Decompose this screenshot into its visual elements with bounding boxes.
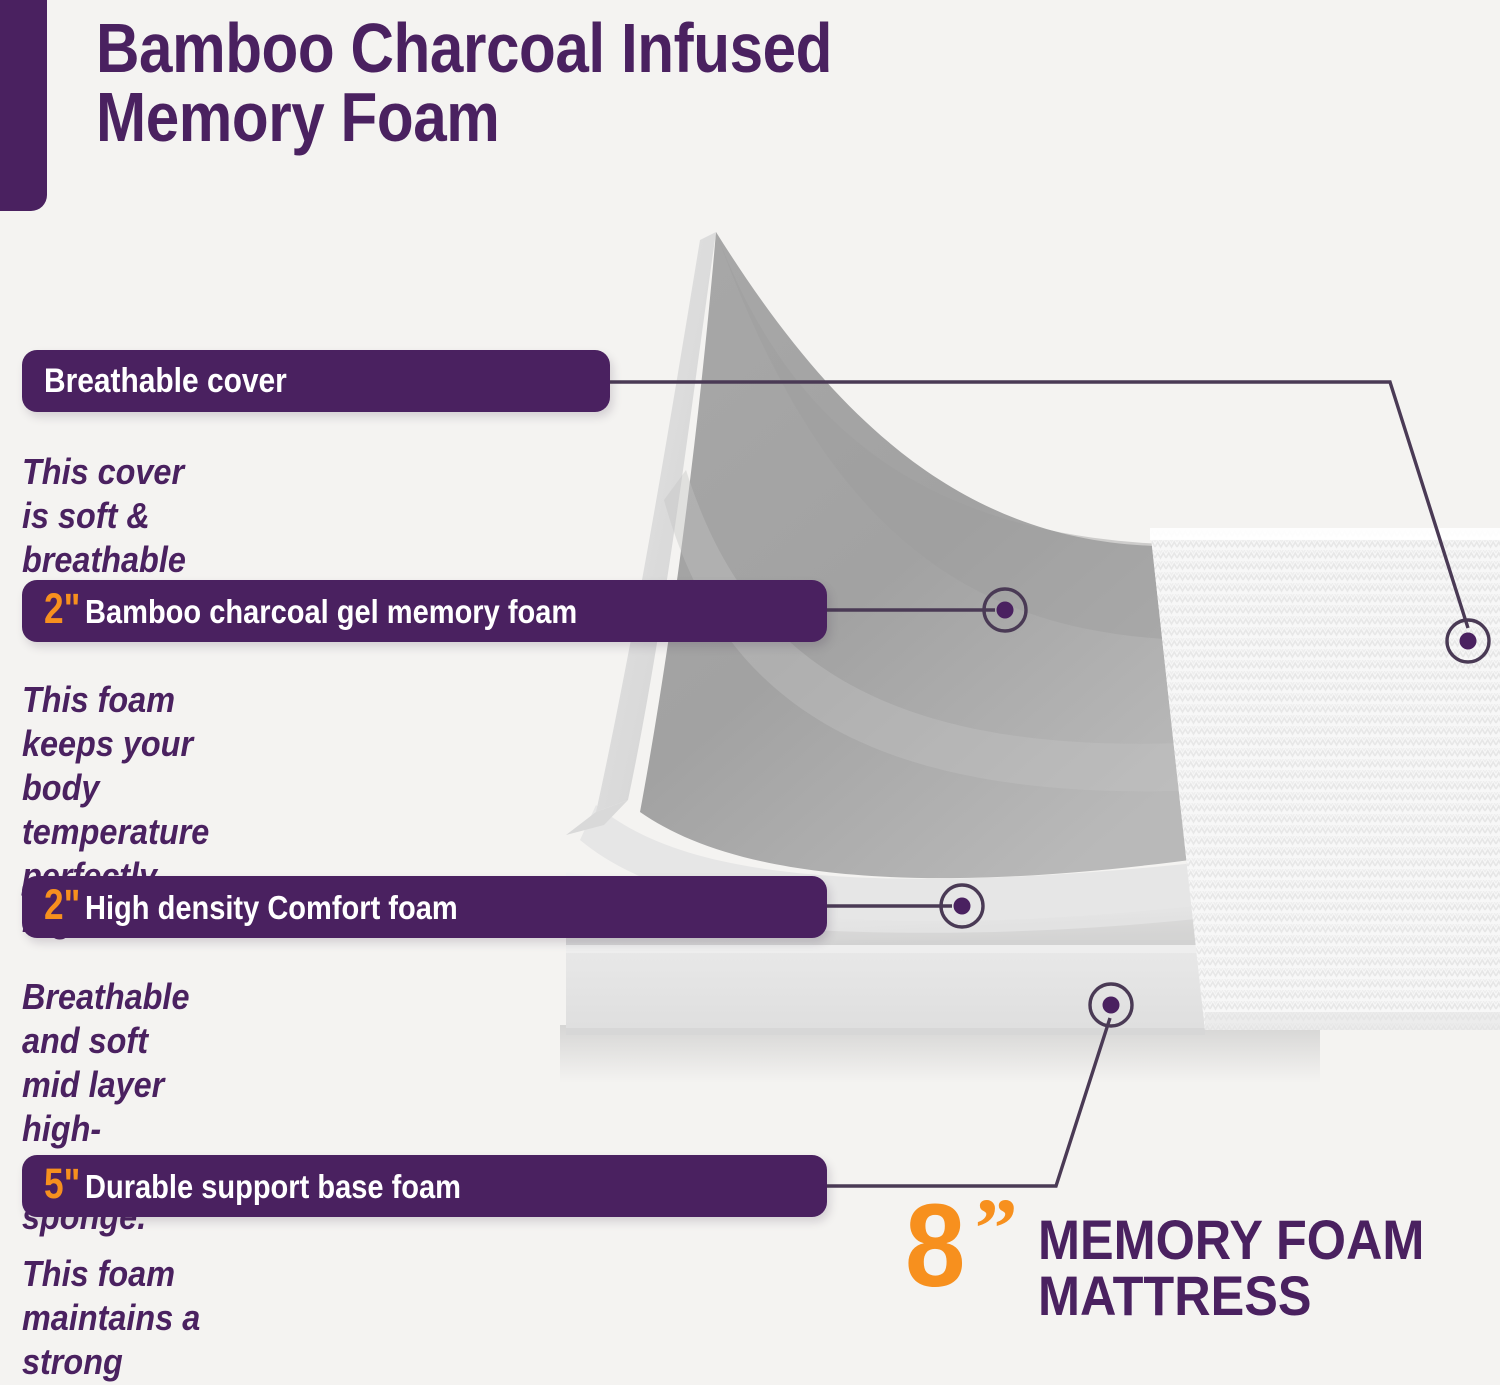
badge-label-base-foam: Durable support base foam — [85, 1170, 461, 1203]
page-title: Bamboo Charcoal Infused Memory Foam — [96, 14, 956, 151]
badge-measure-base-foam: 5" — [44, 1163, 80, 1206]
callout-dots — [941, 589, 1489, 1026]
mattress-ground-shadow — [560, 1025, 1320, 1083]
size-number: 8 — [905, 1198, 965, 1295]
left-accent-bar — [0, 0, 47, 211]
mattress-size-block: 8 ” MEMORY FOAM MATTRESS — [905, 1198, 1467, 1324]
description-breathable-cover: This cover is soft & breathable — [22, 450, 186, 582]
badge-label-breathable-cover: Breathable cover — [44, 364, 287, 398]
badge-base-foam[interactable]: 5" Durable support base foam — [22, 1155, 827, 1217]
leader-line-base — [825, 1018, 1110, 1186]
badge-measure-gel-memory-foam: 2" — [44, 588, 80, 631]
infographic-page: Bamboo Charcoal Infused Memory Foam — [0, 0, 1500, 1385]
badge-measure-comfort-foam: 2" — [44, 884, 80, 927]
badge-label-gel-memory-foam: Bamboo charcoal gel memory foam — [85, 595, 577, 628]
callout-dot-cover — [1447, 620, 1489, 662]
badge-gel-memory-foam[interactable]: 2" Bamboo charcoal gel memory foam — [22, 580, 827, 642]
page-title-line-2: Memory Foam — [96, 83, 956, 152]
callout-dot-base — [1090, 984, 1132, 1026]
badge-label-comfort-foam: High density Comfort foam — [85, 891, 458, 924]
mattress-side-panel — [1150, 528, 1500, 1030]
inch-quote-icon: ” — [975, 1194, 1018, 1263]
callout-dot-comfort — [941, 885, 983, 927]
page-title-line-1: Bamboo Charcoal Infused — [96, 14, 956, 83]
callout-dot-gel — [984, 589, 1026, 631]
badge-breathable-cover[interactable]: Breathable cover — [22, 350, 610, 412]
description-base-foam: This foam maintains a strong structure a… — [22, 1252, 231, 1385]
callout-leaders — [608, 382, 1468, 1186]
size-words: MEMORY FOAM MATTRESS — [1038, 1212, 1424, 1324]
gel-memory-foam-layer — [566, 232, 1205, 921]
base-foam-layer — [566, 940, 1205, 1035]
badge-comfort-foam[interactable]: 2" High density Comfort foam — [22, 876, 827, 938]
